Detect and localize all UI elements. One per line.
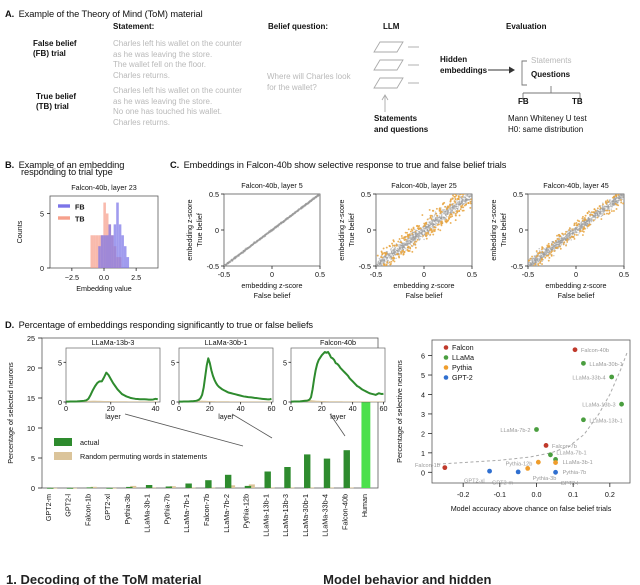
point-label: Pythia-7b [563,470,587,476]
point-nonselective [601,210,603,212]
point-selective [607,199,609,201]
point-nonselective [437,217,439,219]
point-selective [458,195,460,197]
point-selective [581,218,583,220]
point-nonselective [384,259,386,261]
point-nonselective [259,239,261,241]
point-selective [420,227,422,229]
point-nonselective [450,212,452,214]
point-nonselective [416,236,418,238]
point-nonselective [238,255,240,257]
inset-x-tick-label: 40 [152,404,160,413]
point-nonselective [469,191,471,193]
point-nonselective [435,225,437,227]
point-selective [406,232,408,234]
point-nonselective [393,255,395,257]
scatter-point [534,427,539,432]
x-tick-label: Falcon-1b [83,494,92,526]
x-tick-label: Pythia-3b [123,494,132,524]
point-nonselective [391,251,393,253]
point-selective [426,238,428,240]
point-nonselective [601,212,603,214]
belief-question-text: Where will Charles look for the wallet? [267,72,351,93]
x-tick-label: 0 [270,270,274,279]
point-nonselective [304,205,306,207]
inset-title: LLaMa-30b-1 [205,338,248,347]
point-selective [455,198,457,200]
point-selective [561,233,563,235]
point-selective [407,235,409,237]
point-selective [595,210,597,212]
point-label: GPT2-l [561,481,579,487]
point-nonselective [543,256,545,258]
point-nonselective [587,221,589,223]
plot-title: Falcon-40b, layer 5 [241,181,303,190]
legend-label: Random permuting words in statements [80,452,207,461]
point-selective [413,243,415,245]
point-nonselective [620,192,622,194]
point-nonselective [540,256,542,258]
point-nonselective [528,268,530,270]
point-nonselective [618,198,620,200]
point-nonselective [417,234,419,236]
point-nonselective [446,216,448,218]
histogram-bar [124,246,127,268]
point-nonselective [291,214,293,216]
point-nonselective [466,192,468,194]
point-selective [396,245,398,247]
point-selective [424,224,426,226]
point-selective [402,254,404,256]
bar-actual [87,487,93,488]
point-nonselective [465,197,467,199]
histogram-bar [101,235,104,268]
point-selective [387,267,389,269]
point-selective [597,217,599,219]
inset-plot-1: 020406005LLaMa-30b-1layer [171,338,275,421]
x-axis-label-line1: embedding z-score [241,281,302,290]
point-nonselective [570,239,572,241]
point-nonselective [421,229,423,231]
point-nonselective [257,240,259,242]
y-tick-label: 0 [40,264,44,273]
point-nonselective [395,257,397,259]
point-nonselective [545,253,547,255]
x-tick-label: 0 [574,270,578,279]
histogram-bar [114,224,117,268]
point-nonselective [456,204,458,206]
x-tick-label: GPT2-m [44,494,53,521]
inset-x-axis-label: layer [330,412,346,421]
y-tick-label: 0.5 [361,190,371,199]
point-nonselective [403,246,405,248]
y-tick-label: 4 [421,390,425,399]
point-nonselective [445,215,447,217]
bar-actual [344,450,350,488]
inset-frame [179,348,273,402]
point-nonselective [556,242,558,244]
data-points [527,186,624,274]
point-nonselective [378,260,380,262]
point-selective [452,203,454,205]
point-nonselective [396,249,398,251]
point-label: LLaMa-13b-1 [589,418,622,424]
x-axis-label-line2: False belief [406,291,443,300]
point-selective [411,251,413,253]
point-nonselective [303,205,305,207]
point-selective [617,204,619,206]
point-nonselective [378,267,380,269]
scatter-point [573,347,578,352]
point-nonselective [608,207,610,209]
point-nonselective [622,188,624,190]
point-nonselective [591,221,593,223]
point-nonselective [609,203,611,205]
point-selective [392,259,394,261]
point-selective [425,235,427,237]
histogram-bar [127,257,130,268]
point-selective [380,256,382,258]
x-tick-label: LLaMa-30b-1 [301,494,310,537]
point-nonselective [621,192,623,194]
panel-c-heading: C. Embeddings in Falcon-40b show selecti… [170,155,506,173]
point-selective [415,247,417,249]
point-selective [621,186,623,188]
inset-x-tick-label: 0 [177,404,181,413]
point-selective [584,219,586,221]
point-selective [403,251,405,253]
point-nonselective [534,256,536,258]
panel-b-histogram: −2.50.02.505Falcon-40b, layer 23Embeddin… [8,182,173,302]
point-nonselective [462,199,464,201]
point-nonselective [412,238,414,240]
y-tick-label: 25 [27,334,35,343]
histogram-bar [96,235,99,268]
point-nonselective [535,260,537,262]
point-selective [615,195,617,197]
point-nonselective [621,196,623,198]
point-selective [404,236,406,238]
point-selective [613,210,615,212]
point-nonselective [392,253,394,255]
point-nonselective [595,215,597,217]
point-selective [446,221,448,223]
point-nonselective [395,251,397,253]
point-nonselective [379,258,381,260]
point-nonselective [545,251,547,253]
point-selective [537,255,539,257]
data-points [223,193,320,267]
point-nonselective [440,217,442,219]
point-nonselective [263,236,265,238]
point-nonselective [292,214,294,216]
y-tick-label: 0.5 [513,190,523,199]
point-selective [574,223,576,225]
point-nonselective [590,220,592,222]
point-nonselective [598,215,600,217]
legend-label: Pythia [452,363,472,372]
point-nonselective [410,239,412,241]
point-selective [557,247,559,249]
point-nonselective [550,247,552,249]
point-nonselective [423,239,425,241]
point-nonselective [398,246,400,248]
point-nonselective [470,192,472,194]
point-nonselective [555,245,557,247]
point-selective [606,213,608,215]
point-selective [531,266,533,268]
point-nonselective [225,264,227,266]
point-nonselective [544,255,546,257]
point-nonselective [607,206,609,208]
point-selective [600,218,602,220]
point-nonselective [470,189,472,191]
point-selective [603,213,605,215]
point-nonselective [443,210,445,212]
point-selective [620,191,622,193]
point-nonselective [469,199,471,201]
point-selective [566,239,568,241]
point-nonselective [410,241,412,243]
point-nonselective [623,191,625,193]
point-nonselective [548,251,550,253]
point-nonselective [400,246,402,248]
y-axis-label-line2: True belief [347,213,356,247]
point-nonselective [401,245,403,247]
point-nonselective [240,253,242,255]
x-tick-label: 0.1 [568,490,578,499]
point-selective [436,215,438,217]
point-selective [559,235,561,237]
point-selective [397,253,399,255]
point-selective [579,230,581,232]
scatter-point [516,470,521,475]
point-nonselective [537,260,539,262]
point-selective [422,235,424,237]
inset-x-tick-label: 0 [289,404,293,413]
y-axis-label-line2: True belief [499,213,508,247]
point-nonselective [402,242,404,244]
point-nonselective [469,197,471,199]
x-tick-label: -0.1 [494,490,506,499]
x-axis-label-line2: False belief [254,291,291,300]
point-nonselective [445,212,447,214]
point-selective [533,265,535,267]
point-nonselective [593,217,595,219]
inset-x-tick-label: 60 [379,404,387,413]
point-nonselective [553,255,555,257]
tb-trial-label-1: True belief [36,92,76,101]
point-selective [544,257,546,259]
point-nonselective [467,187,469,189]
scatter-point [553,470,558,475]
point-nonselective [380,260,382,262]
point-nonselective [456,207,458,209]
point-nonselective [261,237,263,239]
point-nonselective [607,204,609,206]
point-selective [578,220,580,222]
point-nonselective [227,263,229,265]
point-label: GPT2-m [492,480,513,486]
point-nonselective [432,223,434,225]
point-selective [541,263,543,265]
inset-x-tick-label: 40 [237,404,245,413]
point-nonselective [578,234,580,236]
point-nonselective [397,251,399,253]
point-selective [408,234,410,236]
point-nonselective [419,232,421,234]
point-nonselective [561,238,563,240]
point-nonselective [407,243,409,245]
point-selective [471,183,473,185]
point-selective [599,205,601,207]
point-nonselective [471,192,473,194]
point-selective [403,238,405,240]
point-nonselective [534,258,536,260]
point-selective [407,246,409,248]
fb-trial-label-1: False belief [33,39,77,48]
inset-y-tick-label: 0 [171,398,175,407]
column-header-statement: Statement: [113,22,154,31]
point-selective [382,253,384,255]
point-nonselective [539,259,541,261]
y-tick-label: 2 [421,429,425,438]
point-nonselective [301,207,303,209]
point-nonselective [426,226,428,228]
y-tick-label: 0 [519,226,523,235]
point-selective [618,192,620,194]
point-selective [451,197,453,199]
point-nonselective [378,267,380,269]
point-selective [558,238,560,240]
point-selective [457,198,459,200]
point-selective [582,220,584,222]
point-label: LLaMa-3b-1 [563,460,593,466]
point-nonselective [443,213,445,215]
bar-actual [304,454,310,488]
bar-actual [166,487,172,489]
point-selective [568,229,570,231]
point-nonselective [432,224,434,226]
point-nonselective [254,243,256,245]
point-selective [594,208,596,210]
point-selective [430,228,432,230]
point-selective [576,234,578,236]
legend-label-FB: FB [75,203,85,212]
point-selective [448,206,450,208]
point-nonselective [587,227,589,229]
point-nonselective [566,237,568,239]
leader-lines [125,414,345,446]
point-nonselective [450,211,452,213]
point-selective [383,247,385,249]
point-nonselective [530,260,532,262]
point-selective [446,208,448,210]
legend-label: actual [80,438,100,447]
point-selective [437,224,439,226]
embedding-planes-icon [374,42,419,88]
point-nonselective [591,218,593,220]
point-nonselective [575,229,577,231]
x-tick-label: GPT2-xl [103,494,112,521]
point-selective [539,262,541,264]
point-nonselective [531,266,533,268]
inset-x-tick-label: 20 [318,404,326,413]
point-nonselective [409,243,411,245]
point-nonselective [418,236,420,238]
point-nonselective [231,260,233,262]
point-selective [425,222,427,224]
point-selective [565,245,567,247]
point-nonselective [375,258,377,260]
point-nonselective [283,221,285,223]
point-nonselective [289,216,291,218]
point-nonselective [531,267,533,269]
point-selective [435,213,437,215]
point-nonselective [286,218,288,220]
point-nonselective [427,224,429,226]
bar-actual [106,488,112,489]
plot-title: Falcon-40b, layer 45 [543,181,609,190]
x-tick-label: −2.5 [65,273,79,282]
point-selective [615,203,617,205]
statements-questions-label: Statements and questions [374,114,428,135]
bar-actual [324,459,330,488]
point-nonselective [405,244,407,246]
point-selective [450,216,452,218]
point-nonselective [393,249,395,251]
y-axis-label: Counts [15,220,24,243]
point-selective [449,204,451,206]
x-tick-label: 0.5 [315,270,325,279]
point-selective [593,219,595,221]
point-nonselective [268,232,270,234]
point-nonselective [546,248,548,250]
point-selective [587,212,589,214]
point-nonselective [586,224,588,226]
histogram-bar [119,224,122,268]
point-nonselective [442,209,444,211]
point-selective [430,215,432,217]
x-tick-label: LLaMa-13b-1 [261,494,270,537]
point-selective [409,250,411,252]
plot-title: Falcon-40b, layer 25 [391,181,457,190]
point-selective [394,245,396,247]
point-selective [560,248,562,250]
point-selective [548,243,550,245]
point-selective [620,199,622,201]
panel-c-title: Embeddings in Falcon-40b show selective … [184,160,507,170]
point-nonselective [313,197,315,199]
point-selective [569,227,571,229]
point-selective [397,241,399,243]
bar-actual [146,485,152,488]
point-nonselective [247,248,249,250]
point-nonselective [596,211,598,213]
point-selective [384,264,386,266]
histogram-bar [93,235,96,268]
legend-swatch [54,438,72,446]
point-nonselective [464,192,466,194]
point-nonselective [536,259,538,261]
caption-text-left: 1. Decoding of the ToM material [6,575,202,585]
scatter-point [544,443,549,448]
inset-y-tick-label: 5 [58,358,62,367]
point-nonselective [390,255,392,256]
point-selective [471,188,473,190]
x-tick-label: 2.5 [131,273,141,282]
point-nonselective [569,232,571,234]
